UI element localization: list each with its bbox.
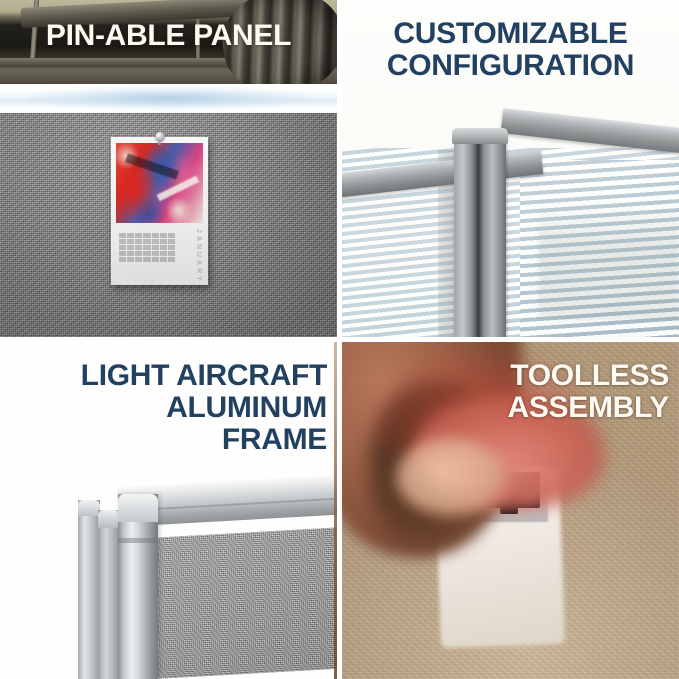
quadrant-light-aircraft-aluminum-frame: LIGHT AIRCRAFT ALUMINUM FRAME bbox=[0, 342, 337, 679]
ceiling-duct-run bbox=[21, 0, 252, 28]
quadrant-pin-able-panel: JANUARY PIN-ABLE PANEL bbox=[0, 0, 337, 337]
light-glow bbox=[27, 87, 310, 109]
calendar-date-grid bbox=[119, 233, 175, 273]
aluminum-vertical-post-middle bbox=[98, 510, 120, 679]
window-view-blur bbox=[538, 200, 679, 320]
push-pin-icon bbox=[155, 132, 164, 141]
warehouse-ceiling bbox=[0, 0, 337, 84]
blurred-fingers bbox=[396, 438, 506, 516]
aluminum-vertical-post-rear bbox=[78, 500, 100, 679]
fabric-panel-insert bbox=[150, 527, 337, 679]
frame-joint-seam bbox=[118, 538, 158, 543]
quadrant-customizable-configuration: CUSTOMIZABLE CONFIGURATION bbox=[342, 0, 679, 337]
quadrant-toolless-assembly: TOOLLESS ASSEMBLY bbox=[342, 342, 679, 679]
corner-post-cap bbox=[452, 128, 508, 144]
aluminum-corner-post bbox=[118, 494, 158, 679]
divider-horizontal bbox=[0, 337, 679, 342]
pinned-calendar: JANUARY bbox=[111, 137, 208, 285]
aluminum-corner-post bbox=[454, 130, 506, 337]
artwork-stroke-dark bbox=[125, 154, 179, 180]
calendar-month-label: JANUARY bbox=[195, 229, 202, 284]
calendar-artwork bbox=[116, 143, 203, 223]
product-feature-collage: JANUARY PIN-ABLE PANEL CUSTOMIZABLE CONF… bbox=[0, 0, 679, 679]
artwork-stroke-light bbox=[157, 175, 199, 200]
